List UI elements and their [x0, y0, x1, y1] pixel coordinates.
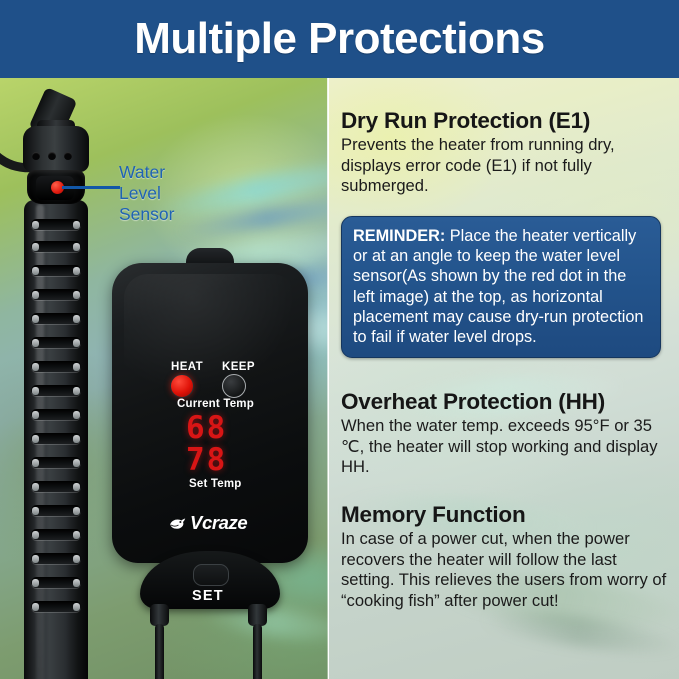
keep-indicator-label: KEEP	[222, 361, 255, 373]
product-photo-panel: Water Level Sensor HEAT KEEP Current Tem…	[0, 78, 328, 679]
sensor-cord	[253, 624, 262, 679]
set-temp-display: 78	[186, 442, 227, 478]
header-banner: Multiple Protections	[0, 0, 679, 78]
heater-vent	[31, 289, 81, 300]
water-level-sensor-callout: Water Level Sensor	[119, 162, 174, 225]
heater-cap-holes	[30, 152, 82, 161]
feature-body: In case of a power cut, when the power r…	[341, 529, 671, 611]
callout-line-1: Water	[119, 162, 174, 183]
page-title: Multiple Protections	[134, 14, 544, 64]
set-temp-label: Set Temp	[189, 478, 242, 490]
body-area: Water Level Sensor HEAT KEEP Current Tem…	[0, 78, 679, 679]
heater-vent	[31, 457, 81, 468]
set-button-label: SET	[192, 588, 224, 604]
reminder-text: REMINDER: Place the heater vertically or…	[353, 226, 649, 347]
feature-body: Prevents the heater from running dry, di…	[341, 135, 671, 197]
feature-dry-run-protection: Dry Run Protection (E1) Prevents the hea…	[341, 108, 671, 197]
callout-line-2: Level	[119, 183, 174, 204]
heater-vent	[31, 481, 81, 492]
fish-logo-icon	[168, 516, 186, 531]
heater-vent	[31, 361, 81, 372]
feature-heading: Dry Run Protection (E1)	[341, 108, 671, 134]
power-cord	[155, 624, 164, 679]
heater-vent	[31, 219, 81, 230]
heater-vent	[31, 577, 81, 588]
heater-vent	[31, 601, 81, 612]
brand-name: Vcraze	[190, 512, 247, 534]
heater-vent	[31, 529, 81, 540]
set-button[interactable]	[193, 564, 229, 586]
keep-led-icon	[222, 374, 246, 398]
current-temp-label: Current Temp	[177, 398, 254, 410]
heater-vent	[31, 505, 81, 516]
heater-vent	[31, 313, 81, 324]
feature-heading: Memory Function	[341, 502, 671, 528]
feature-body: When the water temp. exceeds 95°F or 35 …	[341, 416, 671, 478]
heater-cap	[23, 126, 89, 172]
heater-vent	[31, 409, 81, 420]
feature-memory-function: Memory Function In case of a power cut, …	[341, 502, 671, 611]
cord-grommet	[150, 604, 169, 626]
reminder-callout-box: REMINDER: Place the heater vertically or…	[341, 216, 661, 358]
cord-grommet	[248, 604, 267, 626]
feature-overheat-protection: Overheat Protection (HH) When the water …	[341, 389, 671, 478]
brand-logo: Vcraze	[168, 512, 247, 534]
heater-vent	[31, 241, 81, 252]
features-panel: Dry Run Protection (E1) Prevents the hea…	[329, 78, 679, 679]
heat-led-icon	[170, 374, 194, 398]
heater-vent	[31, 553, 81, 564]
heat-indicator-label: HEAT	[171, 361, 203, 373]
infographic-page: Multiple Protections	[0, 0, 679, 679]
callout-line-3: Sensor	[119, 204, 174, 225]
reminder-prefix: REMINDER:	[353, 227, 445, 245]
feature-heading: Overheat Protection (HH)	[341, 389, 671, 415]
heater-vent	[31, 385, 81, 396]
heater-vent	[31, 337, 81, 348]
heater-vent	[31, 433, 81, 444]
callout-pointer-line	[62, 186, 120, 189]
heater-vent	[31, 265, 81, 276]
current-temp-display: 68	[186, 410, 227, 446]
